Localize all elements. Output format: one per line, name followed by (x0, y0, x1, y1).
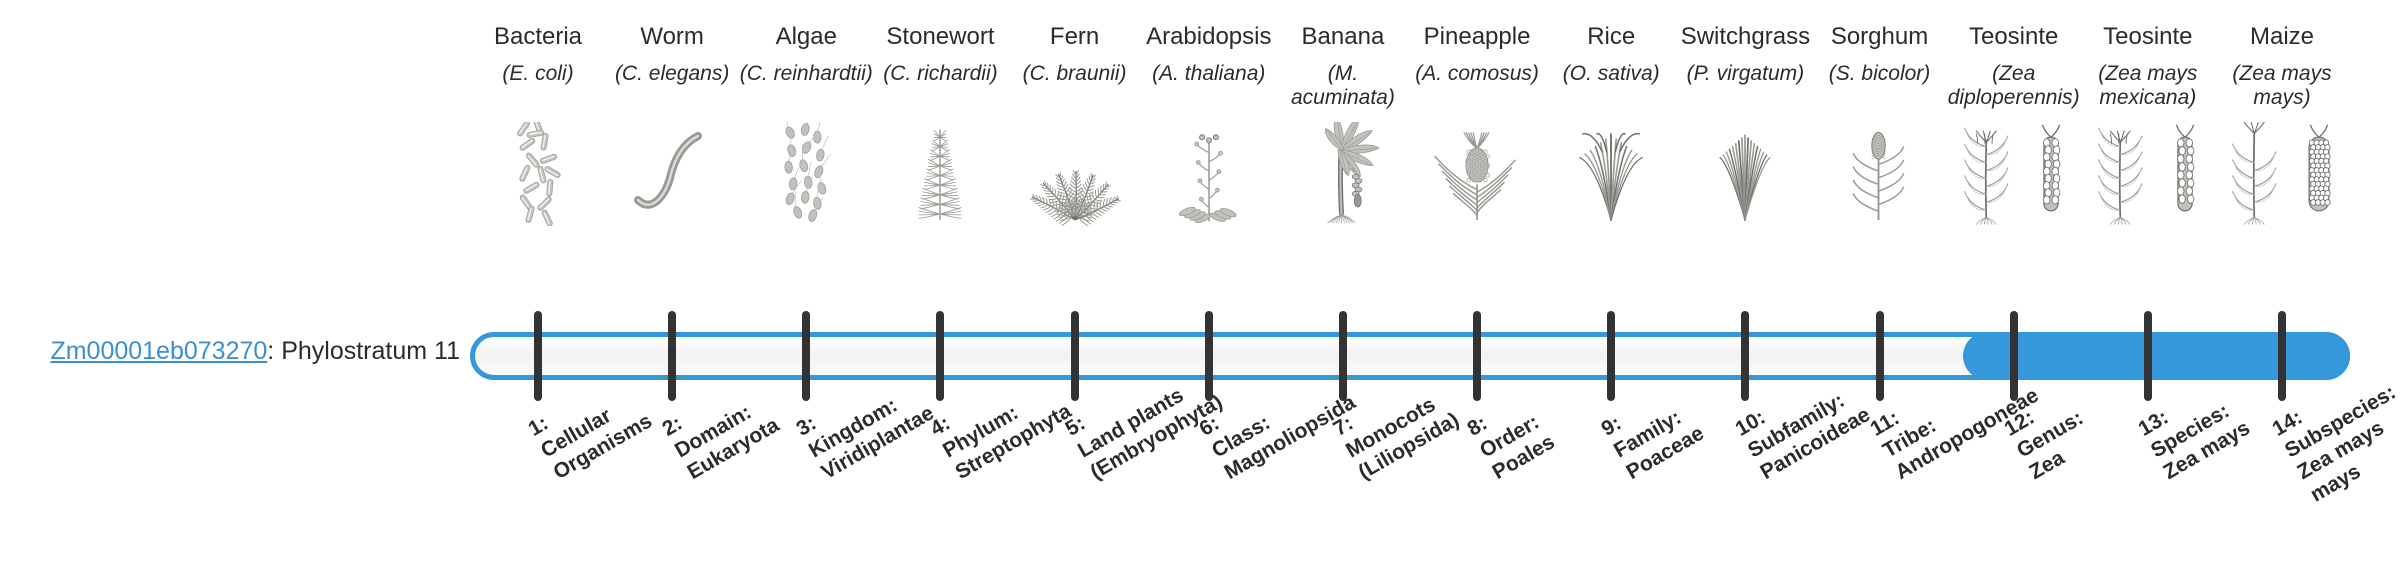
species-scientific-name: (Zea mays mays) (2215, 62, 2349, 112)
timeline-tick-8 (1473, 311, 1481, 401)
stonewort-icon (873, 118, 1007, 226)
species-column-maize-14: Maize(Zea mays mays) (2215, 24, 2349, 226)
stonewort-illustration (903, 122, 977, 226)
species-scientific-name: (C. braunii) (1008, 62, 1142, 112)
gene-label-separator: : (267, 337, 281, 365)
teosinte-mexicana-icon (2081, 118, 2215, 226)
species-column-teosinte-12: Teosinte(Zea diploperennis) (1947, 24, 2081, 226)
rank-label-8: 8: Order: Poales (1463, 386, 1559, 485)
species-column-sorghum-11: Sorghum(S. bicolor) (1813, 24, 1947, 226)
species-column-strip: Bacteria(E. coli) (470, 0, 2350, 320)
species-scientific-name: (C. reinhardtii) (739, 62, 873, 112)
teosinte-mexicana-ear (2160, 122, 2210, 226)
switchgrass-icon (1678, 118, 1812, 226)
teosinte-mexicana-plant (2086, 122, 2156, 226)
sorghum-illustration (1838, 122, 1922, 226)
species-scientific-name: (A. comosus) (1410, 62, 1544, 112)
phylostratigraphy-figure: Zm00001eb073270: Phylostratum 11 Bacteri… (0, 0, 2400, 580)
species-scientific-name: (C. richardii) (873, 62, 1007, 112)
species-scientific-name: (A. thaliana) (1142, 62, 1276, 112)
algae-illustration (770, 122, 842, 226)
timeline-tick-14 (2278, 311, 2286, 401)
maize-plant (2220, 122, 2290, 226)
species-column-switchgrass-10: Switchgrass(P. virgatum) (1678, 24, 1812, 226)
gene-id-link[interactable]: Zm00001eb073270 (50, 337, 267, 365)
species-common-name: Algae (739, 24, 873, 51)
species-column-teosinte-13: Teosinte(Zea mays mexicana) (2081, 24, 2215, 226)
timeline-tick-2 (668, 311, 676, 401)
rice-icon (1544, 118, 1678, 226)
switchgrass-illustration (1699, 122, 1791, 226)
fern-icon (1008, 118, 1142, 226)
species-common-name: Rice (1544, 24, 1678, 51)
species-scientific-name: (M. acuminata) (1276, 62, 1410, 112)
species-column-arabidopsis-6: Arabidopsis(A. thaliana) (1142, 24, 1276, 226)
species-column-fern-5: Fern(C. braunii) (1008, 24, 1142, 226)
species-column-rice-9: Rice(O. sativa) (1544, 24, 1678, 226)
fern-illustration (1029, 122, 1121, 226)
banana-icon (1276, 118, 1410, 226)
species-common-name: Switchgrass (1678, 24, 1812, 51)
species-common-name: Worm (605, 24, 739, 51)
bacteria-illustration (505, 122, 571, 226)
arabidopsis-icon (1142, 118, 1276, 226)
sorghum-icon (1813, 118, 1947, 226)
timeline-tick-5 (1071, 311, 1079, 401)
taxonomic-rank-labels: 1: Cellular Organisms2: Domain: Eukaryot… (470, 420, 2350, 580)
maize-icon (2215, 118, 2349, 226)
arabidopsis-illustration (1167, 122, 1251, 226)
species-scientific-name: (C. elegans) (605, 62, 739, 112)
species-common-name: Teosinte (2081, 24, 2215, 51)
timeline-tick-4 (936, 311, 944, 401)
pineapple-illustration (1433, 122, 1521, 226)
species-common-name: Maize (2215, 24, 2349, 51)
species-scientific-name: (S. bicolor) (1813, 62, 1947, 112)
timeline-tick-1 (534, 311, 542, 401)
species-common-name: Stonewort (873, 24, 1007, 51)
worm-icon (605, 118, 739, 226)
timeline-tick-3 (802, 311, 810, 401)
rank-label-13: 13: Species: Zea mays (2134, 372, 2255, 485)
gene-phylostratum-label: Zm00001eb073270: Phylostratum 11 (40, 338, 460, 366)
rice-illustration (1565, 122, 1657, 226)
pineapple-icon (1410, 118, 1544, 226)
species-common-name: Pineapple (1410, 24, 1544, 51)
worm-illustration (626, 122, 718, 226)
banana-illustration (1291, 122, 1395, 226)
bacteria-icon (471, 118, 605, 226)
species-common-name: Fern (1008, 24, 1142, 51)
maize-cob (2294, 122, 2344, 226)
species-common-name: Teosinte (1947, 24, 2081, 51)
species-column-algae-3: Algae(C. reinhardtii) (739, 24, 873, 226)
phylostratum-value-text: Phylostratum 11 (281, 337, 460, 365)
algae-icon (739, 118, 873, 226)
species-scientific-name: (E. coli) (471, 62, 605, 112)
species-scientific-name: (Zea mays mexicana) (2081, 62, 2215, 112)
timeline-tick-11 (1876, 311, 1884, 401)
species-scientific-name: (Zea diploperennis) (1947, 62, 2081, 112)
species-common-name: Bacteria (471, 24, 605, 51)
species-common-name: Sorghum (1813, 24, 1947, 51)
species-column-banana-7: Banana(M. acuminata) (1276, 24, 1410, 226)
teosinte-diploperennis-ear (2026, 122, 2076, 226)
species-column-bacteria-1: Bacteria(E. coli) (471, 24, 605, 226)
timeline-tick-13 (2144, 311, 2152, 401)
timeline-tick-10 (1741, 311, 1749, 401)
teosinte-diploperennis-icon (1947, 118, 2081, 226)
species-column-worm-2: Worm(C. elegans) (605, 24, 739, 226)
species-scientific-name: (P. virgatum) (1678, 62, 1812, 112)
timeline-tick-9 (1607, 311, 1615, 401)
teosinte-diploperennis-plant (1952, 122, 2022, 226)
species-common-name: Banana (1276, 24, 1410, 51)
species-common-name: Arabidopsis (1142, 24, 1276, 51)
species-column-stonewort-4: Stonewort(C. richardii) (873, 24, 1007, 226)
species-scientific-name: (O. sativa) (1544, 62, 1678, 112)
species-column-pineapple-8: Pineapple(A. comosus) (1410, 24, 1544, 226)
